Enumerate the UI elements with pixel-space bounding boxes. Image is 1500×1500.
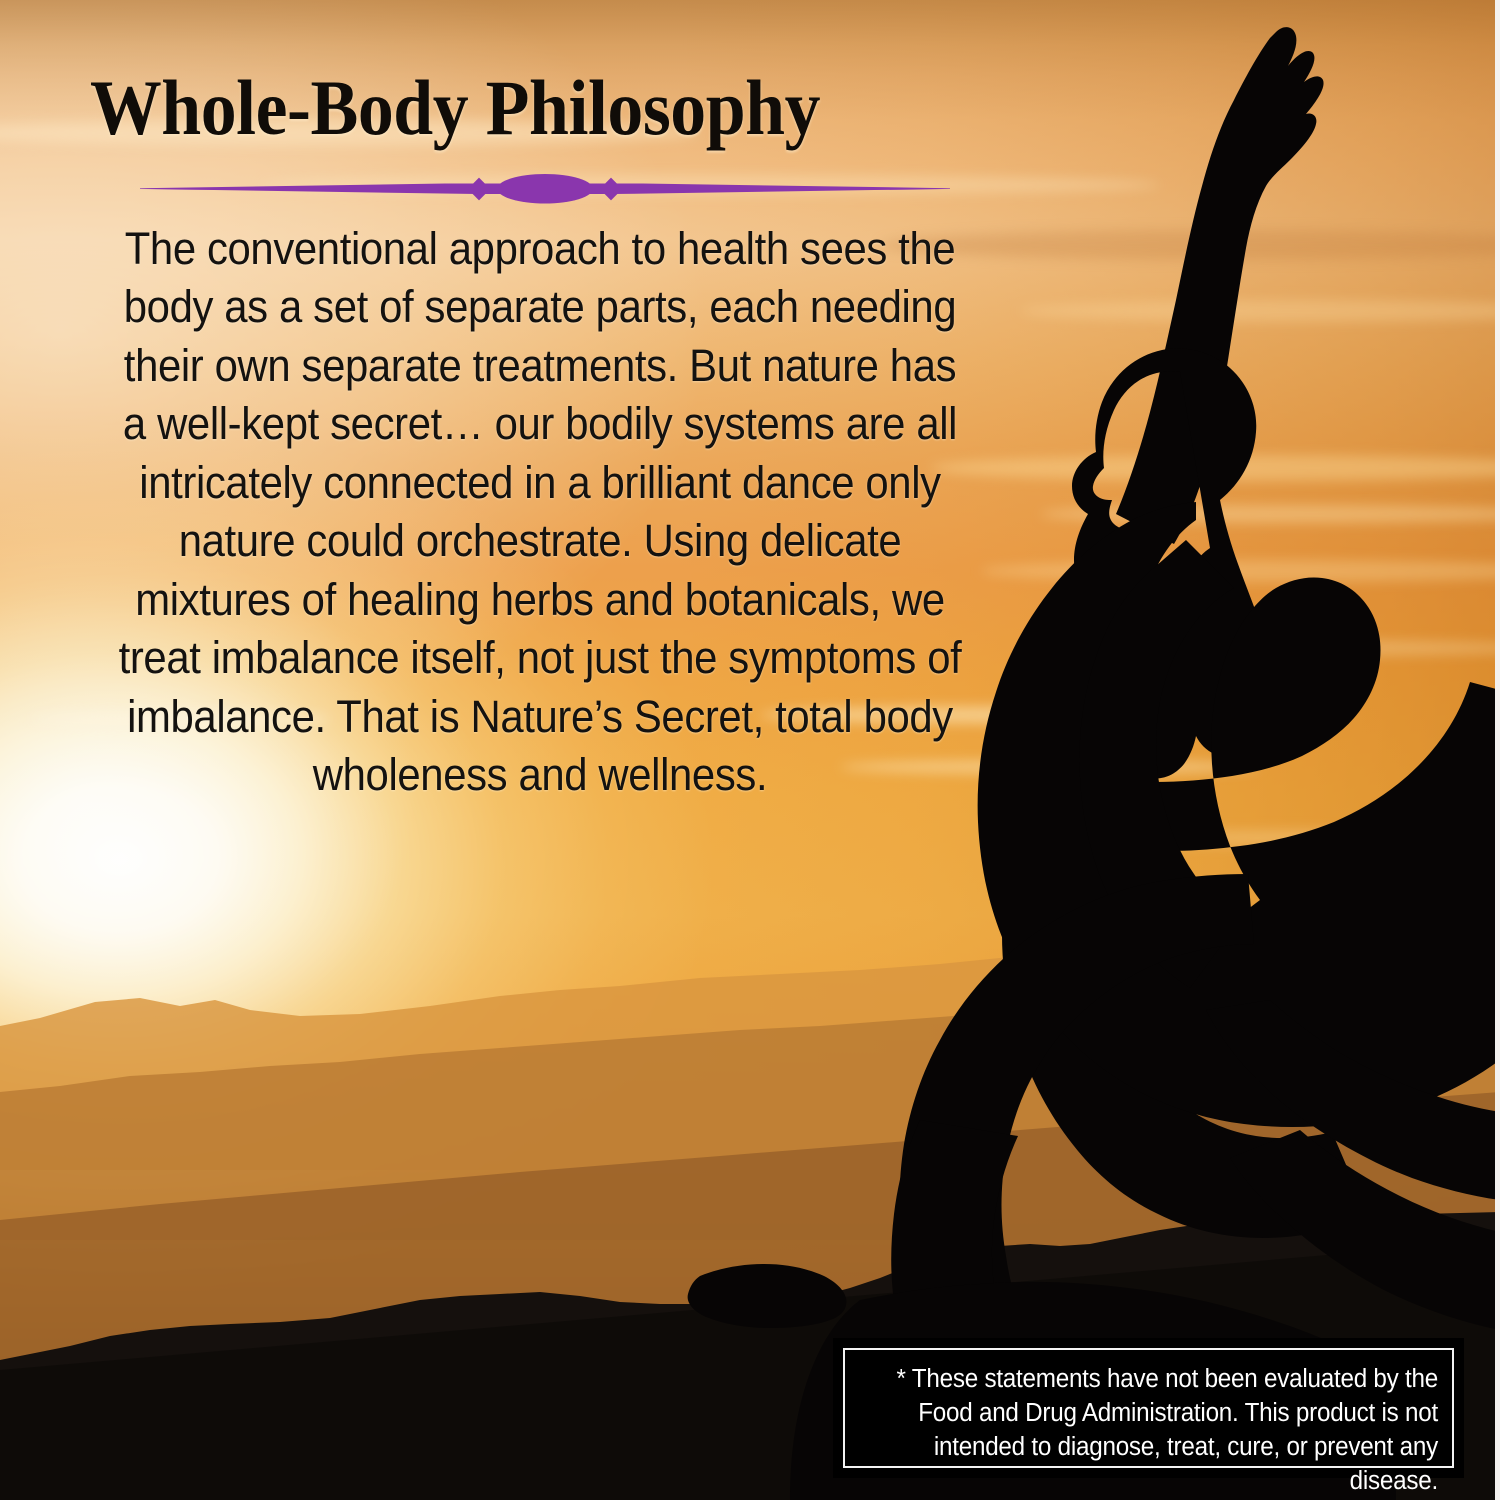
fda-disclaimer-box: * These statements have not been evaluat… [833, 1338, 1464, 1478]
text-column: Whole-Body Philosophy The conventional a… [70, 68, 1030, 805]
divider-diamond-left [468, 177, 491, 200]
body-paragraph: The conventional approach to health sees… [112, 220, 968, 805]
divider-diamond-right [600, 177, 623, 200]
divider-lens-ornament [497, 174, 593, 204]
page-title: Whole-Body Philosophy [90, 68, 955, 148]
promo-image-canvas: Whole-Body Philosophy The conventional a… [0, 0, 1500, 1500]
disclaimer-text: * These statements have not been evaluat… [888, 1362, 1438, 1499]
ornamental-divider [140, 176, 950, 202]
